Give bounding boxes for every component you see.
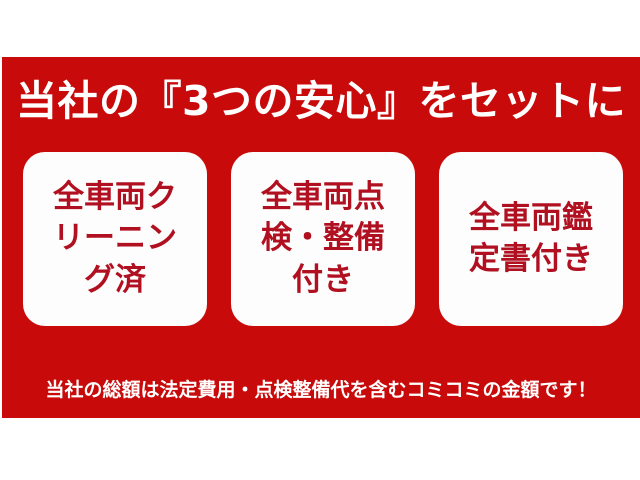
assurance-card-inspection: 全車両点 検・整備 付き [231,152,415,326]
headline: 当社の『3つの安心』をセットに [2,70,640,132]
assurance-card-row: 全車両ク リーニン グ済 全車両点 検・整備 付き 全車両鑑 定書付き [23,152,623,326]
red-panel: 当社の『3つの安心』をセットに 全車両ク リーニン グ済 全車両点 検・整備 付… [2,57,640,418]
card-line: 定書付き [469,239,593,280]
assurance-card-appraisal: 全車両鑑 定書付き [439,152,623,326]
card-line: リーニン [53,218,177,259]
assurance-card-cleaning: 全車両ク リーニン グ済 [23,152,207,326]
card-line: 全車両鑑 [469,198,593,239]
card-line: グ済 [84,260,146,301]
card-line: 全車両ク [53,177,177,218]
footer-note: 当社の総額は法定費用・点検整備代を含むコミコミの金額です！ [2,373,640,407]
promo-banner: 当社の『3つの安心』をセットに 全車両ク リーニン グ済 全車両点 検・整備 付… [0,0,640,480]
card-line: 全車両点 [261,177,385,218]
card-line: 付き [292,260,354,301]
card-line: 検・整備 [261,218,385,259]
